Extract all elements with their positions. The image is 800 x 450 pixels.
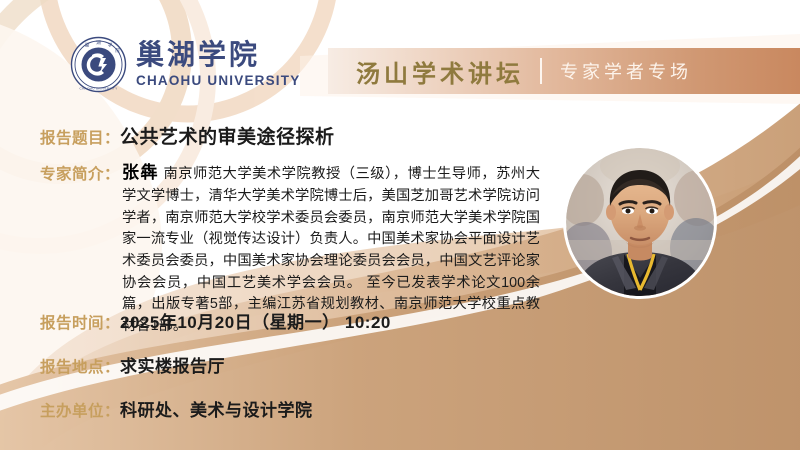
host-unit-label: 主办单位： xyxy=(40,399,120,421)
report-place-value: 求实楼报告厅 xyxy=(120,352,225,377)
report-place-label: 报告地点： xyxy=(40,355,120,377)
report-time-label: 报告时间： xyxy=(40,311,120,333)
report-title-value: 公共艺术的审美途径探析 xyxy=(120,122,335,149)
report-time-value: 2025年10月20日（星期一） 10:20 xyxy=(120,308,391,333)
report-place-row: 报告地点： 求实楼报告厅 xyxy=(40,352,225,377)
report-time-row: 报告时间： 2025年10月20日（星期一） 10:20 xyxy=(40,308,391,333)
host-unit-value: 科研处、美术与设计学院 xyxy=(120,396,313,421)
host-unit-row: 主办单位： 科研处、美术与设计学院 xyxy=(40,396,313,421)
speaker-bio-label: 专家简介： xyxy=(40,160,120,184)
report-title-row: 报告题目： 公共艺术的审美途径探析 xyxy=(40,122,335,149)
poster-content: 报告题目： 公共艺术的审美途径探析 专家简介： 张犇 南京师范大学美术学院教授（… xyxy=(0,0,800,450)
speaker-name: 张犇 xyxy=(122,163,159,182)
report-title-label: 报告题目： xyxy=(40,126,120,148)
seminar-poster: 巢 湖 学 院 CHAOHU UNIVERSITY 巢湖学院 CHAOHU UN… xyxy=(0,0,800,450)
speaker-portrait-photo xyxy=(566,148,714,296)
